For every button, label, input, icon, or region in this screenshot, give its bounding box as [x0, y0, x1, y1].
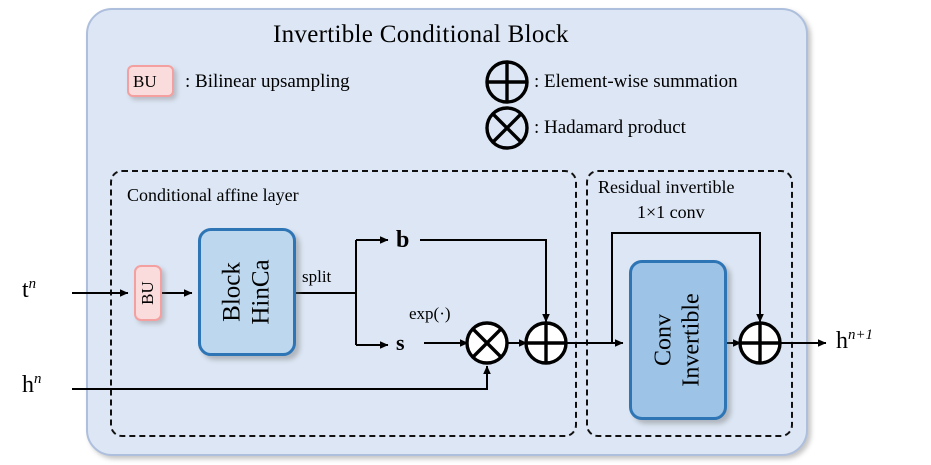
invertible-conv-block-label: Invertible Conv	[650, 293, 705, 386]
legend-circled-times-icon	[487, 108, 527, 148]
input-hn-label: hn	[22, 372, 41, 397]
invertible-conv-block[interactable]: Invertible Conv	[629, 260, 727, 420]
input-hn-superscript: n	[34, 371, 41, 387]
hinca-block[interactable]: HinCa Block	[198, 228, 296, 356]
legend-hadamard-description: : Hadamard product	[534, 118, 686, 137]
hinca-block-label-line1: HinCa	[247, 259, 276, 324]
legend-bu-description: : Bilinear upsampling	[185, 72, 350, 91]
legend-circled-plus-icon	[487, 62, 527, 102]
bu-block-label: BU	[138, 281, 158, 305]
hinca-block-label-line2: Block	[218, 262, 247, 322]
residual-panel-label-line1: Residual invertible	[598, 178, 734, 196]
conditional-affine-layer-label: Conditional affine layer	[127, 186, 299, 204]
input-tn-superscript: n	[29, 276, 36, 292]
page-title: Invertible Conditional Block	[273, 22, 569, 47]
input-tn-label: tn	[22, 277, 36, 302]
input-hn-base: h	[22, 372, 34, 398]
input-tn-base: t	[22, 277, 29, 303]
exp-label: exp(·)	[409, 305, 451, 322]
circled-plus-icon-residual	[740, 323, 780, 363]
legend-bu-label: BU	[133, 73, 157, 90]
invertible-conv-label-line1: Invertible	[678, 293, 706, 386]
invertible-conv-label-line2: Conv	[650, 314, 678, 366]
circled-plus-icon	[526, 323, 566, 363]
split-label: split	[302, 268, 331, 285]
legend-summation-description: : Element-wise summation	[534, 72, 738, 91]
diagram-canvas: Invertible Conditional Block BU : Biline…	[0, 0, 931, 465]
bu-block[interactable]: BU	[134, 265, 162, 321]
bias-b-label: b	[396, 228, 409, 252]
scale-s-label: s	[396, 332, 405, 354]
output-hn1-base: h	[836, 328, 848, 354]
wire-hn-to-hadamard	[72, 366, 487, 389]
output-hn1-superscript: n+1	[848, 327, 873, 343]
residual-panel-label-line2: 1×1 conv	[637, 203, 705, 221]
output-hn1-label: hn+1	[836, 328, 873, 353]
hinca-block-label: HinCa Block	[218, 259, 276, 324]
circled-times-icon	[467, 323, 507, 363]
